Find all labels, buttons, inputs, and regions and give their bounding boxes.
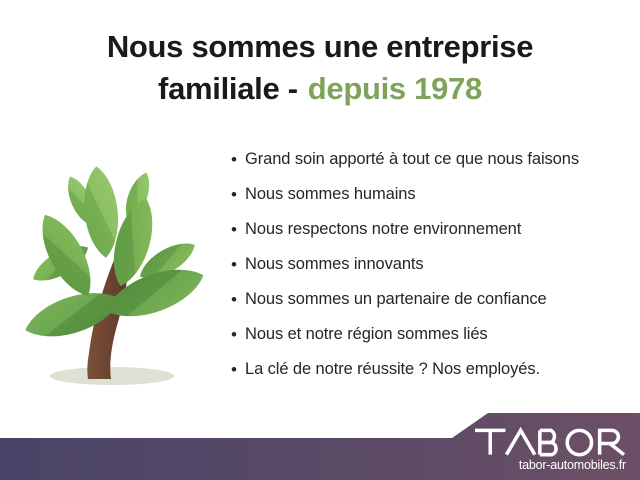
bullet-icon: • (231, 358, 245, 381)
page-title-line-2-plain: familiale - (158, 71, 298, 106)
list-item: • Grand soin apporté à tout ce que nous … (231, 148, 631, 183)
benefits-list: • Grand soin apporté à tout ce que nous … (231, 148, 631, 393)
list-item: • La clé de notre réussite ? Nos employé… (231, 358, 631, 393)
list-item-label: Nous et notre région sommes liés (245, 323, 488, 346)
brand-logo[interactable]: tabor-automobiles.fr (466, 427, 626, 472)
list-item: • Nous sommes un partenaire de confiance (231, 288, 631, 323)
list-item-label: Nous sommes humains (245, 183, 416, 206)
list-item: • Nous et notre région sommes liés (231, 323, 631, 358)
list-item-label: Nous respectons notre environnement (245, 218, 521, 241)
bullet-icon: • (231, 288, 245, 311)
bullet-icon: • (231, 183, 245, 206)
bullet-icon: • (231, 253, 245, 276)
list-item-label: Nous sommes innovants (245, 253, 424, 276)
tabor-wordmark-icon (475, 430, 624, 454)
bullet-icon: • (231, 218, 245, 241)
list-item-label: La clé de notre réussite ? Nos employés. (245, 358, 540, 381)
slide-canvas: Nous sommes une entreprise familiale -de… (0, 0, 640, 480)
list-item: • Nous sommes innovants (231, 253, 631, 288)
page-title: Nous sommes une entreprise familiale -de… (40, 26, 600, 109)
list-item-label: Grand soin apporté à tout ce que nous fa… (245, 148, 579, 171)
page-title-accent: depuis 1978 (308, 71, 482, 106)
footer-bar: tabor-automobiles.fr (0, 405, 640, 480)
bullet-icon: • (231, 323, 245, 346)
list-item: • Nous sommes humains (231, 183, 631, 218)
brand-tagline: tabor-automobiles.fr (466, 458, 626, 472)
tree-shadow (50, 367, 174, 385)
bullet-icon: • (231, 148, 245, 171)
page-title-line-1: Nous sommes une entreprise (40, 26, 600, 68)
page-title-line-2: familiale -depuis 1978 (40, 68, 600, 110)
list-item: • Nous respectons notre environnement (231, 218, 631, 253)
tree-illustration (8, 148, 223, 393)
list-item-label: Nous sommes un partenaire de confiance (245, 288, 547, 311)
